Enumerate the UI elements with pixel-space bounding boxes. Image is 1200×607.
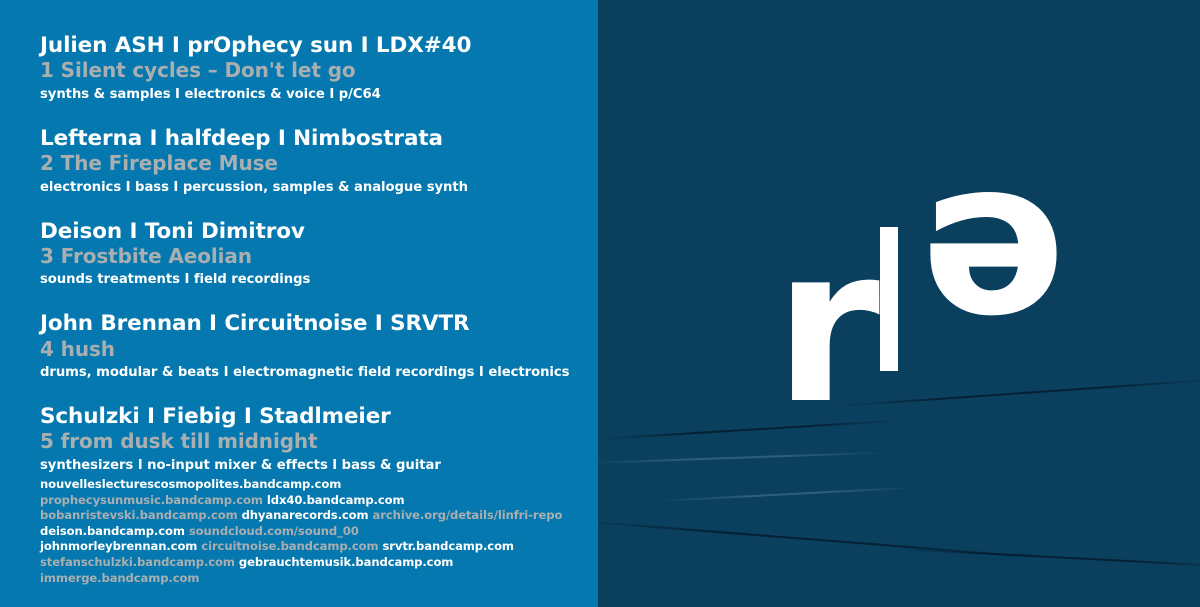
link-line: stefanschulzki.bandcamp.comgebrauchtemus… [40, 555, 585, 571]
link-line: immerge.bandcamp.com [40, 571, 585, 587]
link-url[interactable]: archive.org/details/linfri-repo [373, 508, 563, 522]
track-artists: Schulzki I Fiebig I Stadlmeier [40, 405, 585, 429]
track-instruments: electronics I bass I percussion, samples… [40, 179, 570, 196]
link-url[interactable]: circuitnoise.bandcamp.com [201, 539, 378, 553]
track-artists: Lefterna I halfdeep I Nimbostrata [40, 127, 585, 151]
link-url[interactable]: immerge.bandcamp.com [40, 571, 199, 585]
track-title: 4 hush [40, 338, 585, 362]
track-artists: John Brennan I Circuitnoise I SRVTR [40, 312, 585, 336]
track-block: John Brennan I Circuitnoise I SRVTR4 hus… [40, 312, 585, 381]
link-url[interactable]: soundcloud.com/sound_00 [189, 524, 359, 538]
track-instruments: drums, modular & beats I electromagnetic… [40, 364, 570, 381]
track-title: 5 from dusk till midnight [40, 430, 585, 454]
track-instruments: synthesizers I no-input mixer & effects … [40, 457, 570, 474]
link-url[interactable]: prophecysunmusic.bandcamp.com [40, 493, 263, 507]
track-title: 3 Frostbite Aeolian [40, 245, 585, 269]
track-block: Deison I Toni Dimitrov3 Frostbite Aeolia… [40, 220, 585, 289]
link-url[interactable]: nouvelleslecturescosmopolites.bandcamp.c… [40, 477, 341, 491]
track-instruments: sounds treatments I field recordings [40, 271, 570, 288]
link-url[interactable]: dhyanarecords.com [242, 508, 369, 522]
track-title: 1 Silent cycles – Don't let go [40, 59, 585, 83]
track-instruments: synths & samples I electronics & voice I… [40, 86, 570, 103]
link-url[interactable]: srvtr.bandcamp.com [382, 539, 513, 553]
link-line: johnmorleybrennan.comcircuitnoise.bandca… [40, 539, 585, 555]
logo-separator-bar [880, 227, 898, 371]
track-block: Julien ASH I prOphecy sun I LDX#401 Sile… [40, 34, 585, 103]
cover-photo-panel: r e [598, 0, 1200, 607]
link-line: bobanristevski.bandcamp.comdhyanarecords… [40, 508, 585, 524]
link-url[interactable]: deison.bandcamp.com [40, 524, 185, 538]
link-url[interactable]: johnmorleybrennan.com [40, 539, 197, 553]
logo-letter-e-rotated: e [920, 162, 1066, 377]
track-title: 2 The Fireplace Muse [40, 152, 585, 176]
link-line: deison.bandcamp.comsoundcloud.com/sound_… [40, 524, 585, 540]
track-block: Lefterna I halfdeep I Nimbostrata2 The F… [40, 127, 585, 196]
track-artists: Deison I Toni Dimitrov [40, 220, 585, 244]
track-block: Schulzki I Fiebig I Stadlmeier5 from dus… [40, 405, 585, 474]
link-line: nouvelleslecturescosmopolites.bandcamp.c… [40, 477, 585, 493]
link-url[interactable]: stefanschulzki.bandcamp.com [40, 555, 235, 569]
logo-r-e: r e [774, 218, 1064, 383]
link-line: prophecysunmusic.bandcamp.comldx40.bandc… [40, 493, 585, 509]
tracklist: Julien ASH I prOphecy sun I LDX#401 Sile… [40, 34, 585, 498]
tracklist-panel: Julien ASH I prOphecy sun I LDX#401 Sile… [0, 0, 598, 607]
album-artwork: Julien ASH I prOphecy sun I LDX#401 Sile… [0, 0, 1200, 607]
link-url[interactable]: bobanristevski.bandcamp.com [40, 508, 238, 522]
logo-letter-r: r [774, 218, 880, 433]
link-url[interactable]: gebrauchtemusik.bandcamp.com [239, 555, 453, 569]
links-block: nouvelleslecturescosmopolites.bandcamp.c… [40, 477, 585, 586]
track-artists: Julien ASH I prOphecy sun I LDX#40 [40, 34, 585, 58]
link-url[interactable]: ldx40.bandcamp.com [267, 493, 405, 507]
